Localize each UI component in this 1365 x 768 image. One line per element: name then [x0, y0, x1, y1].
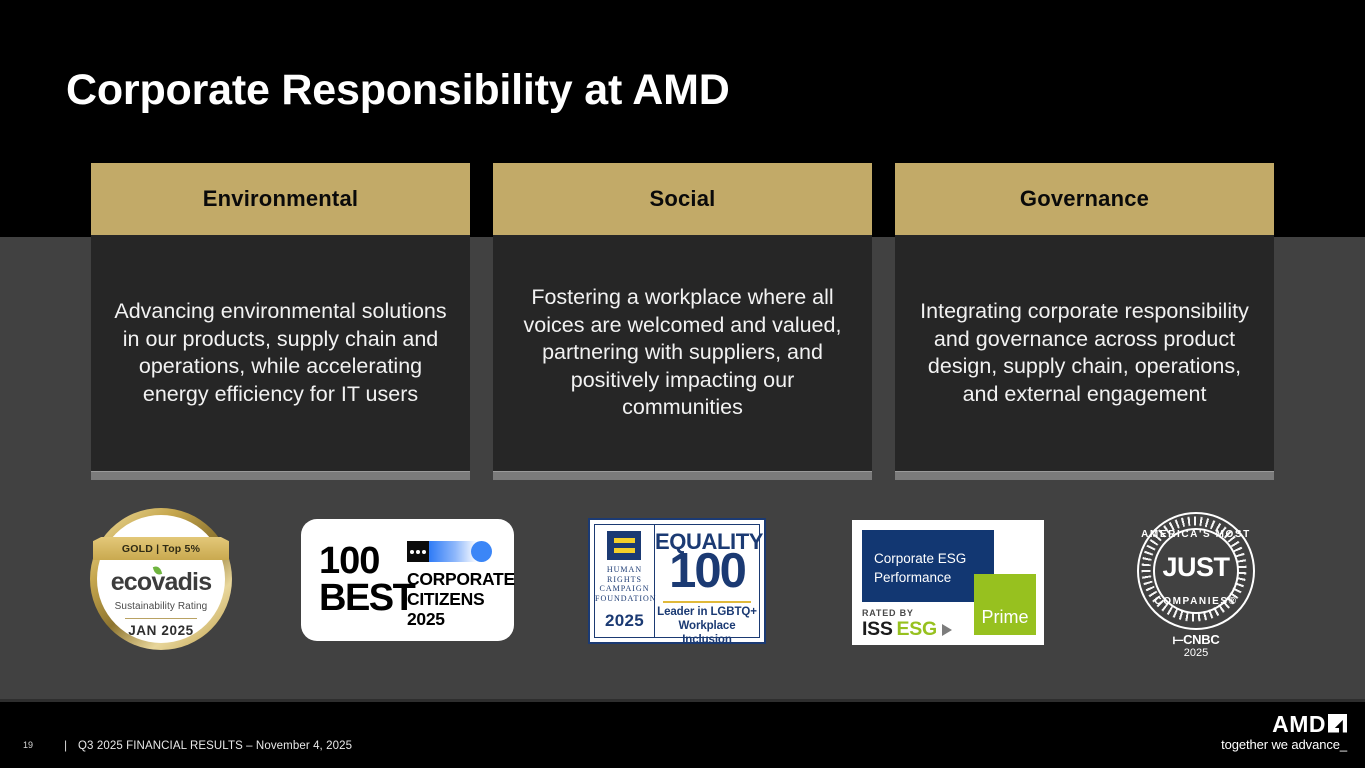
pillar-body-text: Fostering a workplace where all voices a…	[511, 284, 854, 422]
best-badge-graphic-icon	[407, 541, 495, 562]
iss-prime-block: Prime	[974, 574, 1036, 635]
pillar-body-social: Fostering a workplace where all voices a…	[493, 235, 872, 471]
ecovadis-gold-banner: GOLD | Top 5%	[93, 537, 229, 560]
ecovadis-date: JAN 2025	[97, 623, 225, 638]
amd-arrow-icon	[1328, 714, 1347, 733]
pillar-header-governance: Governance	[895, 163, 1274, 235]
pillar-heading-label: Social	[649, 186, 715, 212]
pillar-card-environmental: Environmental Advancing environmental so…	[91, 163, 470, 480]
just-arc-top-text: AMERICA'S MOST	[1137, 529, 1255, 540]
amd-tagline: together we advance_	[1221, 737, 1347, 752]
badge-ecovadis: GOLD | Top 5% ecovadis Sustainability Ra…	[90, 508, 232, 650]
hrc-year: 2025	[595, 611, 654, 631]
hrc-foundation-line4: FOUNDATION	[595, 594, 654, 604]
amd-wordmark-text: AMD	[1272, 712, 1326, 736]
iss-brand-esg: ESG	[897, 618, 937, 641]
hrc-foundation-line3: CAMPAIGN	[595, 584, 654, 594]
slide-root: Corporate Responsibility at AMD Environm…	[0, 0, 1365, 768]
iss-prime-label: Prime	[974, 607, 1036, 628]
hrc-badge-frame: HUMAN RIGHTS CAMPAIGN FOUNDATION 2025 EQ…	[594, 524, 760, 638]
content-panel-edge	[0, 699, 1365, 702]
best-badge-line3: 2025	[407, 609, 515, 629]
hrc-foundation-line1: HUMAN	[595, 565, 654, 575]
iss-rated-by-label: RATED BY	[862, 608, 914, 618]
best-badge-line1: CORPORATE	[407, 569, 515, 589]
hrc-tagline-line1: Leader in LGBTQ+	[655, 605, 759, 619]
just-arc-bottom-text: COMPANIES®	[1137, 596, 1255, 607]
badge-hrc-equality-100: HUMAN RIGHTS CAMPAIGN FOUNDATION 2025 EQ…	[588, 518, 766, 644]
pillar-card-footer-bar	[895, 471, 1274, 480]
best-badge-dots-icon	[407, 541, 429, 562]
iss-headline-line2: Performance	[874, 568, 966, 587]
ecovadis-medal-face: GOLD | Top 5% ecovadis Sustainability Ra…	[97, 515, 225, 643]
hrc-foundation-line2: RIGHTS	[595, 575, 654, 585]
pillar-card-footer-bar	[91, 471, 470, 480]
iss-brand-lockup: ISS ESG	[862, 618, 952, 641]
badge-100-best-corporate-citizens: 100 BEST CORPORATE CITIZENS 2025	[301, 519, 514, 641]
hrc-tagline: Leader in LGBTQ+ Workplace Inclusion	[655, 605, 759, 647]
pillar-card-footer-bar	[493, 471, 872, 480]
badge-just-capital: AMERICA'S MOST JUST COMPANIES® ⟝CNBC 202…	[1137, 512, 1255, 660]
hrc-foundation-text: HUMAN RIGHTS CAMPAIGN FOUNDATION	[595, 565, 654, 603]
iss-brand-iss: ISS	[862, 618, 893, 641]
just-cnbc-logo: ⟝CNBC	[1137, 632, 1255, 648]
best-badge-circle-icon	[471, 541, 492, 562]
amd-wordmark: AMD	[1221, 712, 1347, 736]
best-badge-lines: CORPORATE CITIZENS 2025	[407, 569, 515, 629]
footer-separator: |	[64, 738, 67, 752]
footer-deck-title: Q3 2025 FINANCIAL RESULTS – November 4, …	[78, 740, 352, 752]
best-badge-number: 100	[319, 543, 379, 580]
pillar-body-governance: Integrating corporate responsibility and…	[895, 235, 1274, 471]
pillar-header-social: Social	[493, 163, 872, 235]
hrc-tagline-line2: Workplace Inclusion	[655, 619, 759, 647]
ecovadis-wordmark-pre: eco	[111, 568, 152, 596]
best-badge-word: BEST	[319, 580, 414, 617]
just-center-word: JUST	[1137, 552, 1255, 583]
ecovadis-subtitle: Sustainability Rating	[97, 601, 225, 612]
iss-headline-line1: Corporate ESG	[874, 549, 966, 568]
hrc-badge-right-column: EQUALITY 100 Leader in LGBTQ+ Workplace …	[655, 525, 759, 637]
pillar-card-social: Social Fostering a workplace where all v…	[493, 163, 872, 480]
ecovadis-banner-text: GOLD | Top 5%	[122, 543, 200, 555]
pillar-body-environmental: Advancing environmental solutions in our…	[91, 235, 470, 471]
hrc-score: 100	[655, 545, 759, 597]
just-year: 2025	[1137, 647, 1255, 659]
amd-logo: AMD together we advance_	[1221, 712, 1347, 752]
pillar-card-governance: Governance Integrating corporate respons…	[895, 163, 1274, 480]
ecovadis-leaf-icon: v	[151, 568, 164, 596]
ecovadis-wordmark: ecovadis	[97, 568, 225, 597]
best-badge-gradient-bar	[429, 541, 477, 562]
hrc-equal-sign-icon	[607, 531, 641, 560]
pillar-body-text: Integrating corporate responsibility and…	[913, 298, 1256, 408]
pillar-heading-label: Environmental	[203, 186, 358, 212]
ecovadis-wordmark-post: adis	[164, 568, 211, 596]
hrc-divider	[663, 601, 751, 603]
badge-iss-esg-prime: Corporate ESG Performance Prime RATED BY…	[852, 520, 1044, 645]
pillar-heading-label: Governance	[1020, 186, 1149, 212]
pillar-header-environmental: Environmental	[91, 163, 470, 235]
page-title: Corporate Responsibility at AMD	[66, 66, 730, 115]
hrc-badge-left-column: HUMAN RIGHTS CAMPAIGN FOUNDATION 2025	[595, 525, 655, 637]
ecovadis-divider	[125, 618, 197, 619]
footer-page-number: 19	[23, 740, 33, 750]
best-badge-line2: CITIZENS	[407, 589, 515, 609]
pillar-body-text: Advancing environmental solutions in our…	[109, 298, 452, 408]
iss-headline: Corporate ESG Performance	[874, 549, 966, 587]
iss-play-triangle-icon	[942, 624, 952, 636]
